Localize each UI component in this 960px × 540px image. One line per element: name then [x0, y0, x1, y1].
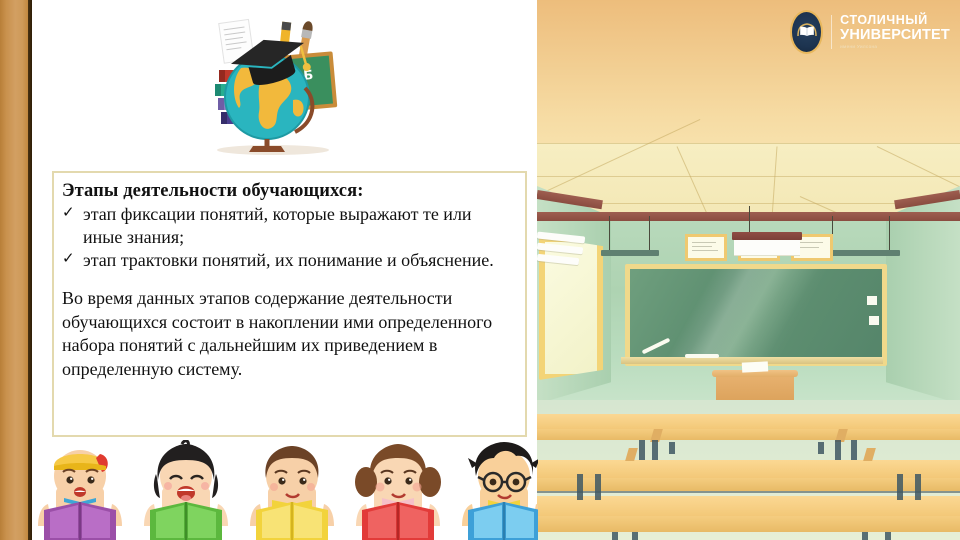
lamp-cord [749, 206, 750, 234]
check-icon: ✓ [62, 203, 76, 222]
framed-picture [685, 234, 727, 261]
board-note [867, 296, 877, 305]
lamp-cord [889, 216, 890, 250]
body-paragraph: Во время данных этапов содержание деятел… [62, 287, 513, 381]
board-glare [630, 269, 882, 361]
ceiling-lamp [601, 250, 659, 256]
bullet-text: этап фиксации понятий, которые выражают … [83, 203, 513, 248]
logo-divider [831, 15, 832, 49]
board-note [869, 316, 879, 325]
ceiling-lamp [825, 250, 900, 256]
textbox-title: Этапы деятельности обучающихся: [62, 181, 513, 202]
chalk-stick [685, 354, 719, 358]
ceiling-line [537, 143, 960, 144]
university-logo: СТОЛИЧНЫЙ УНИВЕРСИТЕТ имени Уилсона [790, 8, 950, 56]
logo-line-2: УНИВЕРСИТЕТ [840, 28, 950, 43]
list-item [242, 440, 342, 540]
ceiling-line [537, 176, 960, 177]
content-textbox: Этапы деятельности обучающихся: ✓ этап ф… [52, 171, 527, 437]
desk-papers [742, 361, 768, 372]
lamp-cord [609, 216, 610, 250]
bullet-text: этап трактовки понятий, их понимание и о… [83, 249, 494, 272]
list-item: ✓ этап трактовки понятий, их понимание и… [62, 249, 513, 272]
open-book-laurel-emblem [790, 10, 823, 54]
list-item: ✓ этап фиксации понятий, которые выражаю… [62, 203, 513, 248]
slide: СТОЛИЧНЫЙ УНИВЕРСИТЕТ имени Уилсона [0, 0, 960, 540]
list-item [30, 440, 130, 540]
board-banner [734, 240, 800, 256]
lamp-cord [649, 216, 650, 250]
chalkboard [625, 264, 887, 366]
classroom-photo: СТОЛИЧНЫЙ УНИВЕРСИТЕТ имени Уилсона [537, 0, 960, 540]
education-globe-illustration: А+Б [185, 4, 345, 162]
list-item [454, 440, 538, 540]
list-item [348, 440, 448, 540]
list-item [136, 440, 236, 540]
check-icon: ✓ [62, 249, 76, 268]
logo-line-1: СТОЛИЧНЫЙ [840, 14, 950, 27]
logo-line-3: имени Уилсона [840, 45, 950, 50]
children-illustration [28, 440, 538, 540]
bullet-list: ✓ этап фиксации понятий, которые выражаю… [62, 203, 513, 271]
board-banner-rail [732, 232, 802, 240]
left-decorative-band [0, 0, 28, 540]
